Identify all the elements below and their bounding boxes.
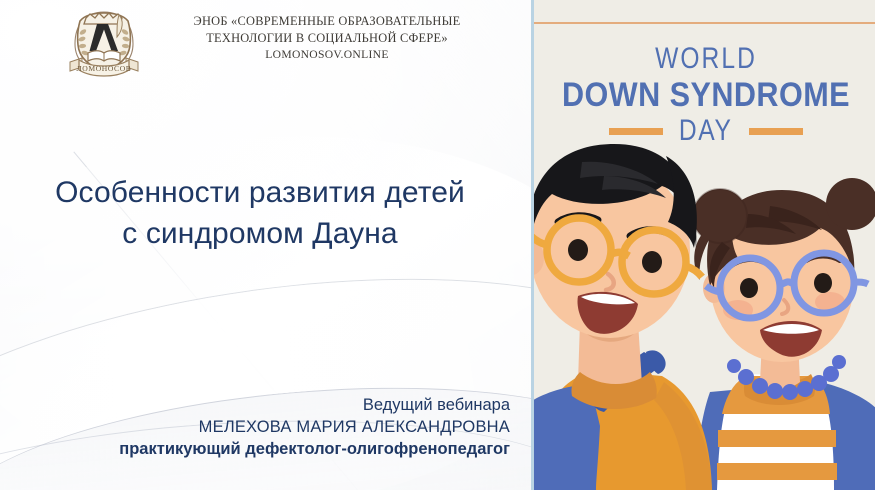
- illustration-panel: WORLD DOWN SYNDROME DAY: [531, 0, 875, 490]
- org-website: LOMONOSOV.ONLINE: [152, 47, 502, 63]
- girl-figure: [693, 178, 875, 490]
- org-line-2: ТЕХНОЛОГИИ В СОЦИАЛЬНОЙ СФЕРЕ»: [152, 30, 502, 47]
- presenter-block: Ведущий вебинара МЕЛЕХОВА МАРИЯ АЛЕКСАНД…: [30, 394, 510, 460]
- presenter-role: Ведущий вебинара: [30, 394, 510, 416]
- presenter-name: МЕЛЕХОВА МАРИЯ АЛЕКСАНДРОВНА: [30, 416, 510, 438]
- organization-name: ЭНОБ «СОВРЕМЕННЫЕ ОБРАЗОВАТЕЛЬНЫЕ ТЕХНОЛ…: [152, 4, 502, 63]
- left-content-panel: ЛОМОНОСОВ ЭНОБ «СОВРЕМЕННЫЕ ОБРАЗОВАТЕЛЬ…: [0, 0, 531, 490]
- slide-title-line-2: с синдромом Дауна: [10, 213, 510, 254]
- crest-ribbon-text: ЛОМОНОСОВ: [77, 64, 132, 73]
- slide-title-line-1: Особенности развития детей: [55, 176, 465, 209]
- presenter-job-title: практикующий дефектолог-олигофренопедаго…: [30, 438, 510, 460]
- org-line-1: ЭНОБ «СОВРЕМЕННЫЕ ОБРАЗОВАТЕЛЬНЫЕ: [152, 13, 502, 30]
- children-illustration: [534, 0, 875, 490]
- boy-figure: [534, 144, 712, 490]
- organization-logo-block: ЛОМОНОСОВ ЭНОБ «СОВРЕМЕННЫЕ ОБРАЗОВАТЕЛЬ…: [62, 4, 502, 90]
- presentation-slide: ЛОМОНОСОВ ЭНОБ «СОВРЕМЕННЫЕ ОБРАЗОВАТЕЛЬ…: [0, 0, 875, 490]
- lomonosov-crest-icon: ЛОМОНОСОВ: [62, 4, 146, 88]
- slide-title: Особенности развития детей с синдромом Д…: [10, 172, 510, 254]
